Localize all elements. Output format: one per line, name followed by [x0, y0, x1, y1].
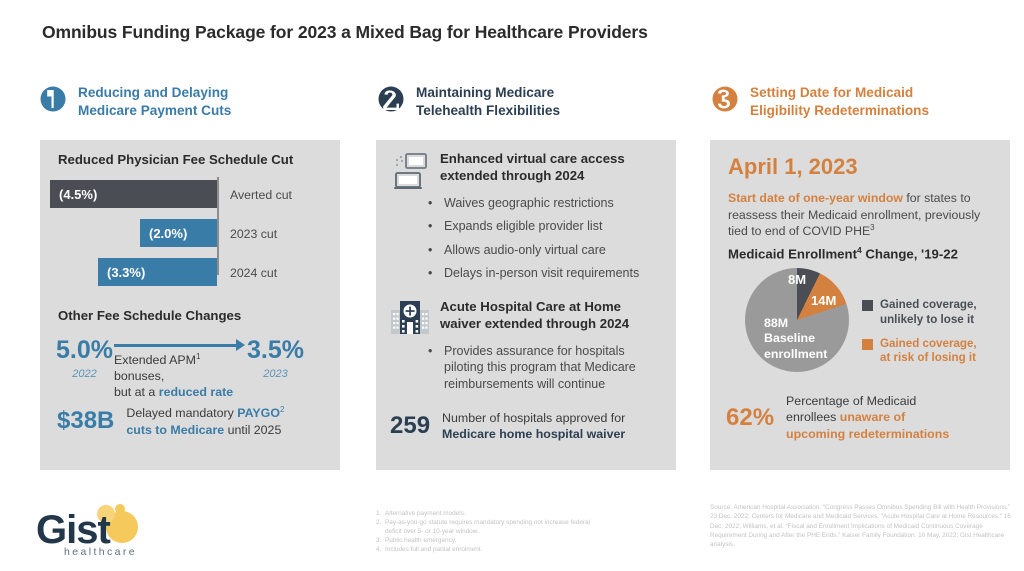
bar-label-2024-cut: 2024 cut [230, 266, 277, 280]
apm-description: Extended APM1 bonuses,but at a reduced r… [114, 352, 246, 401]
legend-swatch-icon [862, 339, 873, 350]
column-2-header: Maintaining Medicare Telehealth Flexibil… [378, 84, 560, 120]
bar-averted-cut: (4.5%) [50, 180, 217, 208]
paygo-label: PAYGO [237, 406, 280, 420]
unaware-stat-row: 62% Percentage of Medicaid enrollees una… [726, 393, 949, 442]
apm-bonus-row: 5.0% 2022 Extended APM1 bonuses,but at a… [56, 338, 304, 401]
gist-healthcare-logo: Gist healthcare [36, 500, 166, 560]
footnote-row: 2.Pay-as-you-go statute requires mandato… [376, 518, 606, 536]
footnote-ref-2: 2 [280, 405, 284, 414]
apm-to: 3.5% 2023 [247, 338, 304, 380]
footnote-row: 3.Public health emergency. [376, 536, 606, 545]
numbered-circle-3-icon [712, 86, 738, 112]
acute-care-bullets: •Provides assurance for hospitals piloti… [424, 343, 664, 399]
bar-label-averted-cut: Averted cut [230, 188, 292, 202]
bullet-dot-icon: • [424, 265, 444, 281]
apm-from-value: 5.0% [56, 336, 113, 364]
list-item: •Delays in-person visit requirements [424, 265, 659, 281]
redetermination-description: Start date of one-year window for states… [728, 190, 996, 240]
bullet-dot-icon: • [424, 343, 444, 392]
other-changes-title: Other Fee Schedule Changes [58, 308, 241, 323]
column-3-header: Setting Date for Medicaid Eligibility Re… [712, 84, 929, 120]
infographic-page: Omnibus Funding Package for 2023 a Mixed… [0, 0, 1024, 571]
footnote-ref-1: 1 [196, 352, 200, 361]
column-1-header: Reducing and Delaying Medicare Payment C… [40, 84, 231, 120]
chart-axis-line [217, 177, 219, 275]
paygo-stat-row: $38B Delayed mandatory PAYGO2cuts to Med… [57, 405, 284, 438]
list-item: •Waives geographic restrictions [424, 195, 659, 211]
paygo-stat-text: Delayed mandatory PAYGO2cuts to Medicare… [126, 405, 284, 438]
footnotes: 1.Alternative payment models. 2.Pay-as-y… [376, 509, 606, 554]
redetermination-date: April 1, 2023 [728, 154, 858, 180]
apm-arrow-icon [114, 338, 246, 352]
acute-care-item: Acute Hospital Care at Home waiver exten… [388, 298, 629, 343]
apm-from-year: 2022 [56, 368, 113, 380]
numbered-circle-1-icon [40, 86, 66, 112]
telehealth-screens-icon [388, 150, 432, 197]
bar-2024-cut: (3.3%) [98, 258, 217, 286]
legend-swatch-icon [862, 300, 873, 311]
legend-item-at-risk: Gained coverage, at risk of losing it [862, 337, 1002, 367]
apm-reduced-rate: reduced rate [159, 385, 233, 399]
paygo-stat-number: $38B [57, 409, 114, 433]
apm-to-value: 3.5% [247, 336, 304, 364]
legend-item-unlikely-to-lose: Gained coverage, unlikely to lose it [862, 298, 1002, 328]
hospital-building-icon [388, 298, 432, 343]
enrollment-chart-title: Medicaid Enrollment4 Change, '19-22 [728, 245, 958, 261]
start-date-highlight: Start date of one-year window [728, 191, 903, 205]
hospitals-approved-number: 259 [390, 414, 430, 438]
apm-to-year: 2023 [247, 368, 304, 380]
bullet-dot-icon: • [424, 218, 444, 234]
unaware-stat-text: Percentage of Medicaid enrollees unaware… [786, 393, 949, 442]
footnote-ref-3: 3 [870, 223, 874, 232]
apm-middle: Extended APM1 bonuses,but at a reduced r… [114, 338, 246, 401]
numbered-circle-2-icon [378, 86, 404, 112]
acute-care-item-title: Acute Hospital Care at Home waiver exten… [440, 298, 629, 332]
unaware-stat-number: 62% [726, 406, 774, 430]
hospitals-approved-text: Number of hospitals approved forMedicare… [442, 410, 625, 443]
bullet-dot-icon: • [424, 195, 444, 211]
list-item: •Expands eligible provider list [424, 218, 659, 234]
bar-2023-cut: (2.0%) [140, 219, 217, 247]
telehealth-item: Enhanced virtual care access extended th… [388, 150, 625, 197]
column-3-heading-text: Setting Date for Medicaid Eligibility Re… [750, 84, 929, 120]
source-citation: Source: American Hospital Association. “… [710, 503, 1012, 549]
fee-schedule-chart-title: Reduced Physician Fee Schedule Cut [58, 152, 293, 167]
page-title: Omnibus Funding Package for 2023 a Mixed… [42, 22, 648, 43]
bar-label-2023-cut: 2023 cut [230, 227, 277, 241]
telehealth-item-title: Enhanced virtual care access extended th… [440, 150, 625, 184]
pie-label-8m: 8M [788, 272, 806, 287]
pie-label-baseline: 88M Baseline enrollment [764, 316, 827, 362]
hospitals-approved-stat-row: 259 Number of hospitals approved forMedi… [390, 410, 625, 443]
telehealth-bullets: •Waives geographic restrictions •Expands… [424, 195, 659, 288]
svg-text:healthcare: healthcare [64, 546, 137, 558]
panel-column-1: Reduced Physician Fee Schedule Cut (4.5%… [40, 140, 340, 470]
hospitals-approved-bold: Medicare home hospital waiver [442, 427, 625, 441]
column-2-heading-text: Maintaining Medicare Telehealth Flexibil… [416, 84, 560, 120]
list-item: •Allows audio-only virtual care [424, 242, 659, 258]
panel-column-2: Enhanced virtual care access extended th… [376, 140, 676, 470]
apm-from: 5.0% 2022 [56, 338, 113, 380]
pie-legend: Gained coverage, unlikely to lose it Gai… [862, 298, 1002, 375]
panel-column-3: April 1, 2023 Start date of one-year win… [710, 140, 1010, 470]
list-item: •Provides assurance for hospitals piloti… [424, 343, 664, 392]
pie-label-14m: 14M [811, 293, 836, 308]
column-1-heading-text: Reducing and Delaying Medicare Payment C… [78, 84, 231, 120]
bullet-dot-icon: • [424, 242, 444, 258]
paygo-medicare-cuts: cuts to Medicare [126, 423, 224, 437]
footnote-row: 4.Includes full and partial enrolment. [376, 545, 606, 554]
footnote-row: 1.Alternative payment models. [376, 509, 606, 518]
